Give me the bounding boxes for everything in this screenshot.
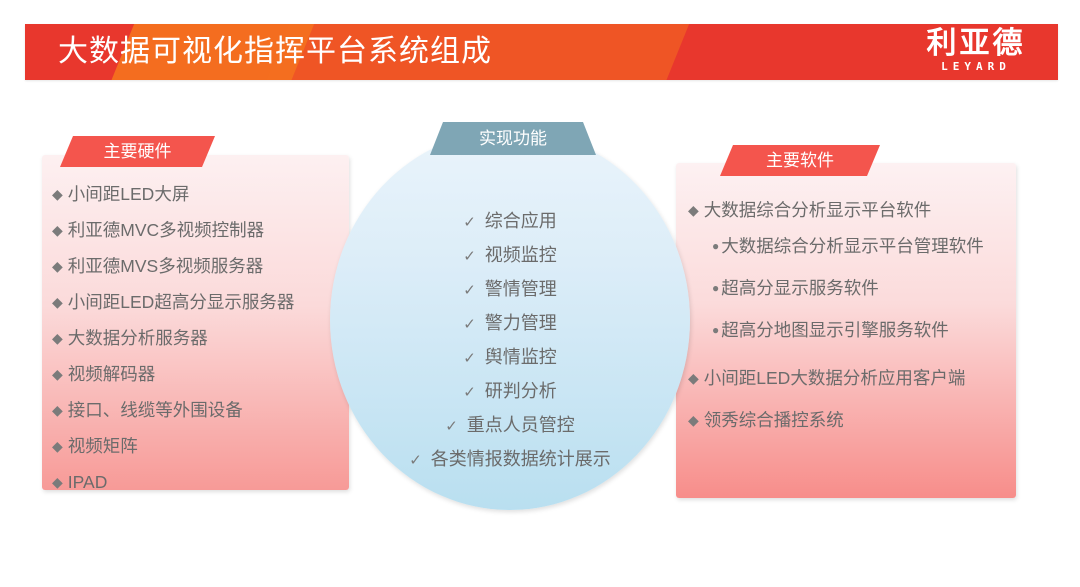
logo-chinese-text: 利亚德 <box>906 28 1046 60</box>
list-item: ✓视频监控 <box>330 239 690 273</box>
function-tab-label: 实现功能 <box>430 122 596 155</box>
list-item-label: 视频解码器 <box>68 362 156 386</box>
check-icon: ✓ <box>463 316 476 333</box>
software-tab-label: 主要软件 <box>720 145 880 176</box>
dot-bullet-icon: ● <box>712 276 719 300</box>
list-item-label: 超高分显示服务软件 <box>721 276 879 300</box>
list-item-label: 重点人员管控 <box>467 415 575 435</box>
list-item-label: 综合应用 <box>485 211 557 231</box>
list-item: ✓综合应用 <box>330 205 690 239</box>
hardware-tab-label: 主要硬件 <box>60 136 215 167</box>
leyard-logo: 利亚德 LEYARD <box>906 28 1046 74</box>
list-item-label: 大数据分析服务器 <box>68 326 208 350</box>
check-icon: ✓ <box>463 350 476 367</box>
diamond-bullet-icon: ◆ <box>52 434 63 458</box>
list-item: ◆大数据分析服务器 <box>52 326 352 350</box>
list-item-label: 警情管理 <box>485 279 557 299</box>
diamond-bullet-icon: ◆ <box>52 290 63 314</box>
list-item: ◆视频解码器 <box>52 362 352 386</box>
list-item-label: 利亚德MVC多视频控制器 <box>68 218 264 242</box>
list-item: ◆利亚德MVC多视频控制器 <box>52 218 352 242</box>
check-icon: ✓ <box>463 248 476 265</box>
diamond-bullet-icon: ◆ <box>52 362 63 386</box>
list-item: ◆接口、线缆等外围设备 <box>52 398 352 422</box>
list-item-label: 小间距LED大数据分析应用客户端 <box>704 366 966 390</box>
list-item: ●超高分地图显示引擎服务软件 <box>688 318 1018 342</box>
list-item: ◆大数据综合分析显示平台软件 <box>688 198 1018 222</box>
list-item-label: 大数据综合分析显示平台管理软件 <box>721 234 984 258</box>
list-item-label: 领秀综合播控系统 <box>704 408 844 432</box>
list-item: ✓重点人员管控 <box>330 409 690 443</box>
hardware-list: ◆小间距LED大屏 ◆利亚德MVC多视频控制器 ◆利亚德MVS多视频服务器 ◆小… <box>52 182 352 506</box>
list-item: ✓警情管理 <box>330 273 690 307</box>
list-item-label: 舆情监控 <box>485 347 557 367</box>
check-icon: ✓ <box>409 452 422 469</box>
diamond-bullet-icon: ◆ <box>52 470 63 494</box>
list-item: ◆利亚德MVS多视频服务器 <box>52 254 352 278</box>
list-item-label: 警力管理 <box>485 313 557 333</box>
software-list: ◆大数据综合分析显示平台软件 ●大数据综合分析显示平台管理软件 ●超高分显示服务… <box>688 198 1018 444</box>
diamond-bullet-icon: ◆ <box>52 254 63 278</box>
list-item-label: 研判分析 <box>485 381 557 401</box>
list-item-label: 超高分地图显示引擎服务软件 <box>721 318 949 342</box>
check-icon: ✓ <box>463 282 476 299</box>
list-item: ●大数据综合分析显示平台管理软件 <box>688 234 1018 258</box>
list-item-label: 各类情报数据统计展示 <box>431 449 611 469</box>
diamond-bullet-icon: ◆ <box>52 182 63 206</box>
diamond-bullet-icon: ◆ <box>52 326 63 350</box>
list-item-label: 小间距LED超高分显示服务器 <box>68 290 295 314</box>
list-item-label: 大数据综合分析显示平台软件 <box>704 198 932 222</box>
list-item: ✓各类情报数据统计展示 <box>330 443 690 477</box>
list-item-label: 利亚德MVS多视频服务器 <box>68 254 263 278</box>
page-title: 大数据可视化指挥平台系统组成 <box>58 32 492 72</box>
logo-latin-text: LEYARD <box>906 60 1046 74</box>
list-item: ◆小间距LED超高分显示服务器 <box>52 290 352 314</box>
list-item: ◆视频矩阵 <box>52 434 352 458</box>
list-item: ●超高分显示服务软件 <box>688 276 1018 300</box>
list-item: ✓舆情监控 <box>330 341 690 375</box>
list-item: ✓警力管理 <box>330 307 690 341</box>
diamond-bullet-icon: ◆ <box>52 398 63 422</box>
diamond-bullet-icon: ◆ <box>52 218 63 242</box>
list-item: ✓研判分析 <box>330 375 690 409</box>
list-item: ◆小间距LED大屏 <box>52 182 352 206</box>
list-item-label: 视频矩阵 <box>68 434 138 458</box>
list-item: ◆领秀综合播控系统 <box>688 408 1018 432</box>
dot-bullet-icon: ● <box>712 318 719 342</box>
list-item-label: IPAD <box>68 470 108 494</box>
header-bar: 大数据可视化指挥平台系统组成 利亚德 LEYARD <box>25 24 1058 80</box>
list-item-label: 接口、线缆等外围设备 <box>68 398 243 422</box>
check-icon: ✓ <box>445 418 458 435</box>
check-icon: ✓ <box>463 214 476 231</box>
list-item-label: 小间距LED大屏 <box>68 182 190 206</box>
dot-bullet-icon: ● <box>712 234 719 258</box>
function-list: ✓综合应用 ✓视频监控 ✓警情管理 ✓警力管理 ✓舆情监控 ✓研判分析 ✓重点人… <box>330 205 690 477</box>
list-item: ◆小间距LED大数据分析应用客户端 <box>688 366 1018 390</box>
list-item: ◆IPAD <box>52 470 352 494</box>
list-item-label: 视频监控 <box>485 245 557 265</box>
check-icon: ✓ <box>463 384 476 401</box>
